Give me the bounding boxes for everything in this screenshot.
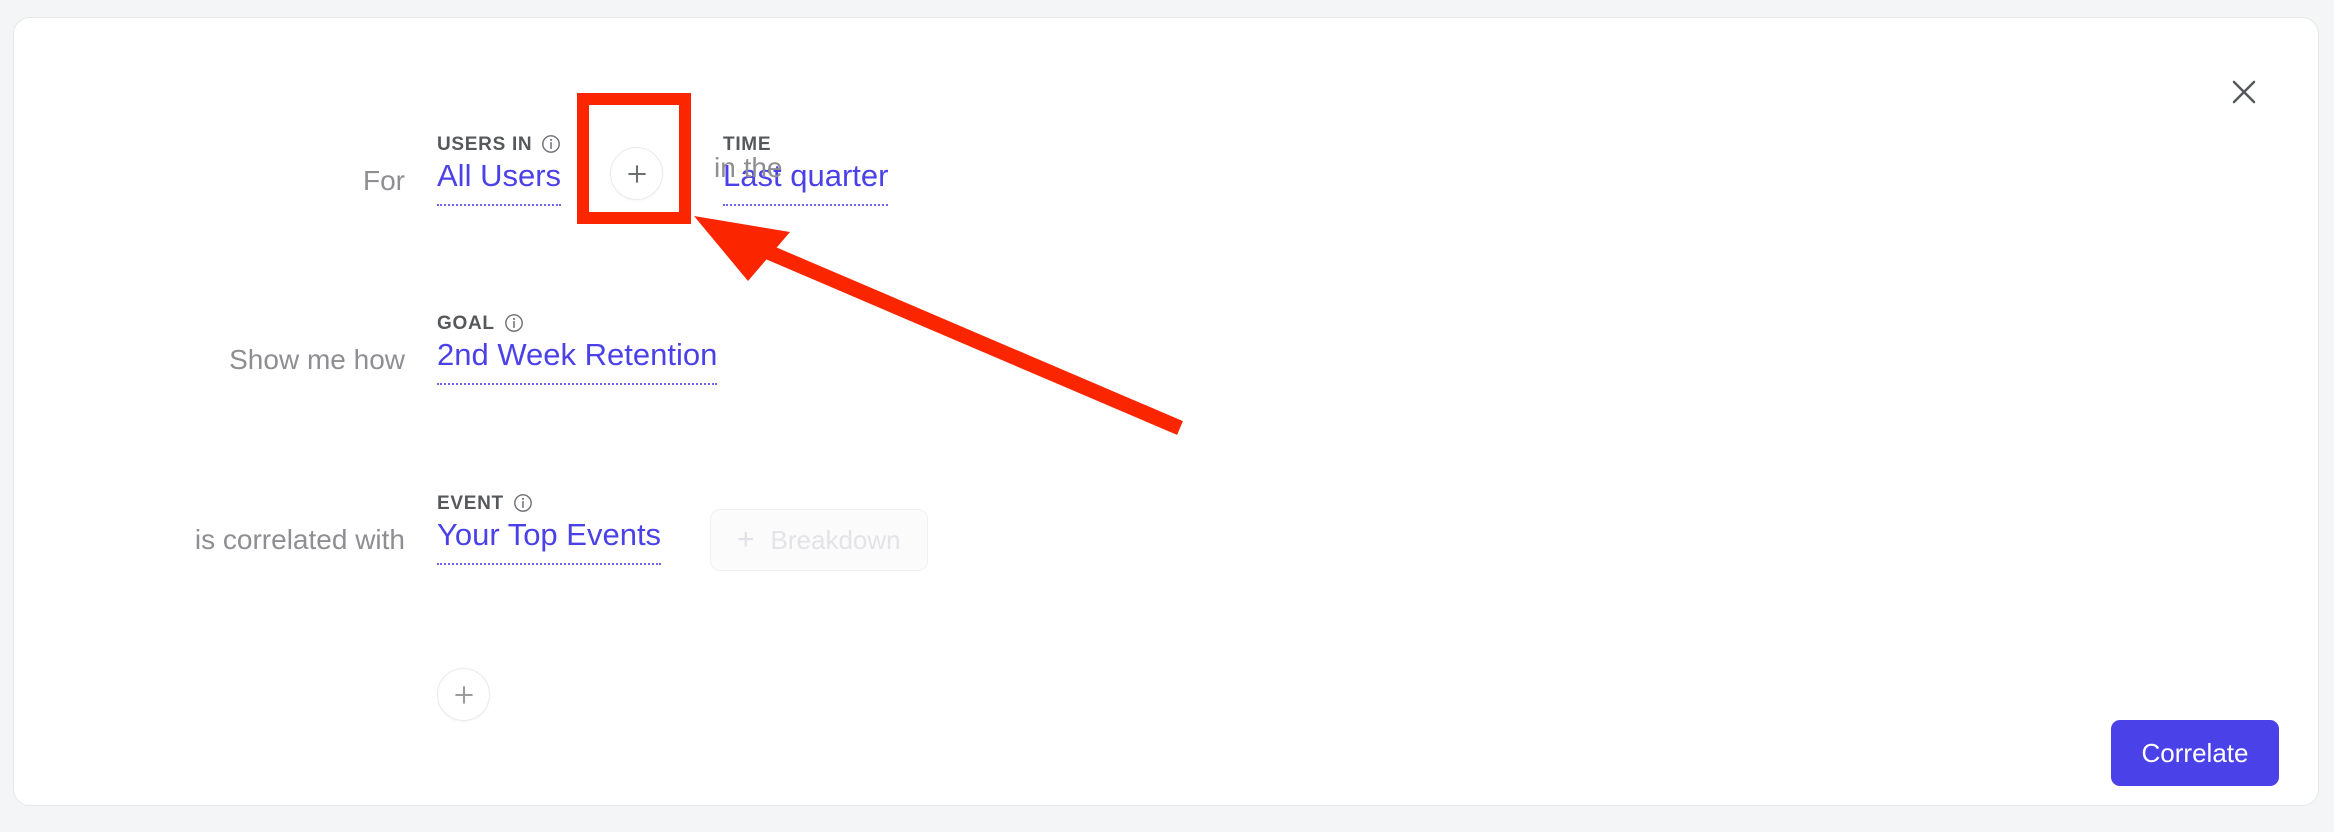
query-row-event: is correlated with EVENT Your Top Events xyxy=(14,495,661,565)
field-label-goal: GOAL xyxy=(437,313,524,333)
plus-icon xyxy=(625,162,649,186)
row-prefix-for: For xyxy=(14,164,405,206)
goal-value[interactable]: 2nd Week Retention xyxy=(437,336,717,385)
add-filter-button[interactable] xyxy=(610,147,663,200)
info-icon[interactable] xyxy=(541,134,561,154)
plus-icon: + xyxy=(737,525,755,555)
correlation-query-builder-screen: For USERS IN All Users TIME xyxy=(0,0,2334,832)
query-row-goal: Show me how GOAL 2nd Week Retention xyxy=(14,315,717,385)
info-icon[interactable] xyxy=(504,313,524,333)
add-query-row-button[interactable] xyxy=(437,668,490,721)
close-button[interactable] xyxy=(2222,70,2266,114)
row-prefix-is-correlated-with: is correlated with xyxy=(14,523,405,565)
field-label-text: GOAL xyxy=(437,314,495,333)
field-goal: GOAL 2nd Week Retention xyxy=(437,336,717,385)
event-value[interactable]: Your Top Events xyxy=(437,516,661,565)
users-in-value[interactable]: All Users xyxy=(437,157,561,206)
field-label-users-in: USERS IN xyxy=(437,134,561,154)
info-icon[interactable] xyxy=(513,493,533,513)
query-builder-card: For USERS IN All Users TIME xyxy=(13,17,2319,806)
plus-icon xyxy=(452,683,476,707)
connector-in-the: in the xyxy=(714,151,783,185)
breakdown-label: Breakdown xyxy=(771,525,901,556)
field-label-text: USERS IN xyxy=(437,135,532,154)
close-icon xyxy=(2231,79,2257,105)
correlate-button[interactable]: Correlate xyxy=(2111,720,2279,786)
field-users-in: USERS IN All Users xyxy=(437,157,561,206)
field-label-text: EVENT xyxy=(437,494,504,513)
row-prefix-show-me-how: Show me how xyxy=(14,343,405,385)
field-label-event: EVENT xyxy=(437,493,533,513)
field-event: EVENT Your Top Events xyxy=(437,516,661,565)
add-breakdown-button[interactable]: + Breakdown xyxy=(710,509,928,571)
